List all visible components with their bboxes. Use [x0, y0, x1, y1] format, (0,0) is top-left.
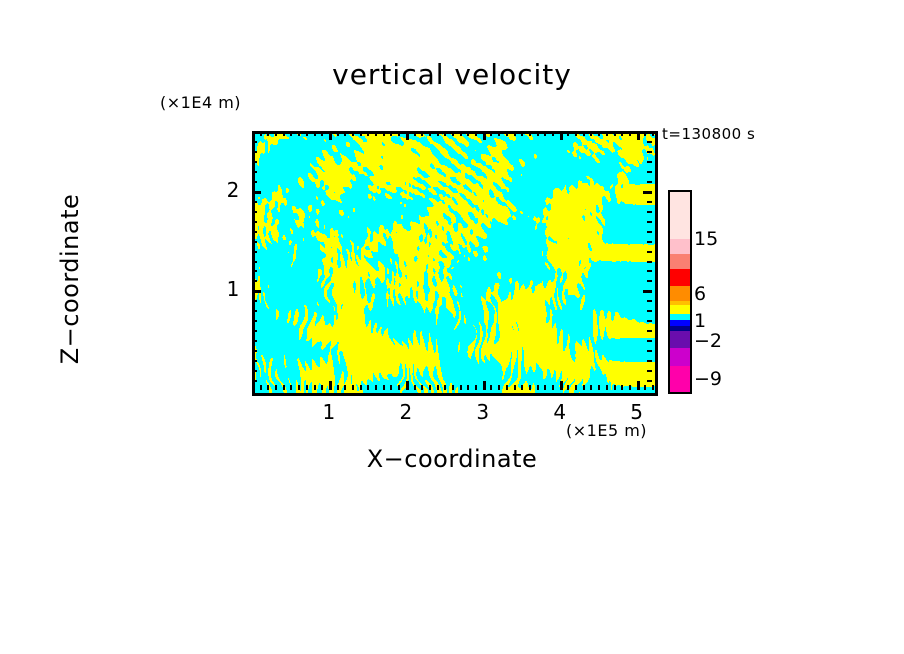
axis-tick	[583, 385, 585, 390]
axis-tick	[544, 385, 546, 390]
axis-tick	[290, 385, 292, 390]
x-axis-tick-label: 2	[392, 400, 420, 424]
y-axis-tick-label: 2	[222, 178, 244, 202]
axis-tick	[514, 385, 516, 390]
axis-tick	[252, 141, 257, 143]
axis-tick	[647, 171, 652, 173]
axis-tick	[637, 131, 640, 140]
axis-tick	[252, 380, 257, 382]
axis-tick	[490, 131, 492, 136]
axis-tick	[252, 171, 257, 173]
axis-tick	[252, 360, 257, 362]
axis-tick	[614, 131, 616, 136]
axis-tick	[575, 131, 577, 136]
axis-tick	[583, 131, 585, 136]
axis-tick	[329, 131, 332, 140]
axis-tick	[647, 251, 652, 253]
x-axis-tick-label: 4	[546, 400, 574, 424]
colorbar-tick-label: 15	[694, 228, 718, 250]
axis-tick	[444, 131, 446, 136]
axis-tick	[590, 385, 592, 390]
axis-tick	[414, 385, 416, 390]
colorbar-tick-label: −2	[694, 330, 722, 352]
axis-tick	[544, 131, 546, 136]
page-title: vertical velocity	[0, 58, 904, 91]
colorbar-tick-label: 6	[694, 283, 706, 305]
axis-tick	[275, 131, 277, 136]
y-axis-tick-label: 1	[222, 277, 244, 301]
axis-tick	[252, 191, 261, 194]
axis-tick	[529, 131, 531, 136]
axis-tick	[460, 385, 462, 390]
axis-tick	[267, 131, 269, 136]
axis-tick	[647, 161, 652, 163]
axis-tick	[360, 385, 362, 390]
axis-tick	[647, 300, 652, 302]
axis-tick	[375, 385, 377, 390]
axis-tick	[321, 131, 323, 136]
axis-tick	[314, 385, 316, 390]
axis-tick	[398, 131, 400, 136]
axis-tick	[490, 385, 492, 390]
axis-tick	[598, 131, 600, 136]
axis-tick	[647, 181, 652, 183]
axis-tick	[414, 131, 416, 136]
axis-tick	[621, 385, 623, 390]
axis-tick	[360, 131, 362, 136]
axis-tick	[644, 131, 646, 136]
axis-tick	[306, 131, 308, 136]
axis-tick	[647, 370, 652, 372]
axis-tick	[483, 131, 486, 140]
axis-tick	[290, 131, 292, 136]
axis-tick	[344, 131, 346, 136]
axis-tick	[260, 131, 262, 136]
axis-tick	[475, 131, 477, 136]
axis-tick	[429, 131, 431, 136]
axis-tick	[267, 385, 269, 390]
axis-tick	[252, 211, 257, 213]
axis-tick	[252, 370, 257, 372]
colorbar-band	[670, 331, 690, 348]
axis-tick	[298, 131, 300, 136]
axis-tick	[444, 385, 446, 390]
axis-tick	[644, 385, 646, 390]
axis-tick	[652, 131, 654, 136]
axis-tick	[498, 131, 500, 136]
contour-plot-area	[252, 131, 658, 396]
axis-tick	[260, 385, 262, 390]
colorbar-tick-label: −9	[694, 368, 722, 390]
axis-tick	[629, 131, 631, 136]
axis-tick	[560, 131, 563, 140]
axis-tick	[283, 385, 285, 390]
colorbar-band	[670, 239, 690, 254]
axis-tick	[275, 385, 277, 390]
axis-tick	[252, 151, 257, 153]
colorbar-band	[670, 366, 690, 392]
axis-tick	[367, 385, 369, 390]
axis-tick	[643, 290, 652, 293]
axis-tick	[498, 385, 500, 390]
axis-tick	[352, 385, 354, 390]
colorbar-band	[670, 254, 690, 269]
axis-tick	[647, 211, 652, 213]
axis-tick	[298, 385, 300, 390]
axis-tick	[637, 381, 640, 390]
axis-tick	[306, 385, 308, 390]
axis-tick	[647, 231, 652, 233]
axis-tick	[252, 330, 257, 332]
axis-tick	[647, 310, 652, 312]
axis-tick	[406, 131, 409, 140]
colorbar-band	[670, 348, 690, 366]
axis-tick	[252, 310, 257, 312]
axis-tick	[652, 385, 654, 390]
axis-tick	[647, 360, 652, 362]
axis-tick	[252, 251, 257, 253]
axis-tick	[283, 131, 285, 136]
axis-tick	[252, 340, 257, 342]
axis-tick	[252, 201, 257, 203]
x-axis-tick-label: 5	[623, 400, 651, 424]
axis-tick	[398, 385, 400, 390]
axis-tick	[521, 131, 523, 136]
velocity-field-image	[255, 134, 655, 393]
time-annotation: t=130800 s	[662, 125, 755, 143]
axis-tick	[506, 385, 508, 390]
axis-tick	[383, 385, 385, 390]
axis-tick	[647, 261, 652, 263]
colorbar	[668, 190, 692, 394]
axis-tick	[337, 385, 339, 390]
axis-tick	[567, 385, 569, 390]
axis-tick	[647, 141, 652, 143]
axis-tick	[252, 300, 257, 302]
x-axis-label: X−coordinate	[0, 445, 904, 473]
axis-tick	[552, 131, 554, 136]
axis-tick	[467, 385, 469, 390]
axis-tick	[460, 131, 462, 136]
y-axis-label: Z−coordinate	[56, 149, 84, 409]
axis-tick	[252, 320, 257, 322]
axis-tick	[452, 131, 454, 136]
axis-tick	[621, 131, 623, 136]
axis-tick	[647, 241, 652, 243]
axis-tick	[521, 385, 523, 390]
axis-tick	[606, 131, 608, 136]
axis-tick	[437, 131, 439, 136]
axis-tick	[437, 385, 439, 390]
axis-tick	[647, 330, 652, 332]
axis-tick	[647, 221, 652, 223]
axis-tick	[252, 350, 257, 352]
axis-tick	[590, 131, 592, 136]
axis-tick	[647, 280, 652, 282]
axis-tick	[537, 131, 539, 136]
y-axis-units-label: (×1E4 m)	[160, 93, 241, 112]
axis-tick	[314, 131, 316, 136]
axis-tick	[406, 381, 409, 390]
axis-tick	[606, 385, 608, 390]
axis-tick	[647, 380, 652, 382]
colorbar-tick-label: 1	[694, 310, 706, 332]
axis-tick	[575, 385, 577, 390]
axis-tick	[383, 131, 385, 136]
axis-tick	[567, 131, 569, 136]
axis-tick	[321, 385, 323, 390]
axis-tick	[647, 270, 652, 272]
axis-tick	[352, 131, 354, 136]
axis-tick	[329, 381, 332, 390]
axis-tick	[337, 131, 339, 136]
axis-tick	[375, 131, 377, 136]
axis-tick	[514, 131, 516, 136]
axis-tick	[647, 340, 652, 342]
axis-tick	[647, 320, 652, 322]
colorbar-band	[670, 269, 690, 286]
colorbar-band	[670, 192, 690, 239]
axis-tick	[529, 385, 531, 390]
axis-tick	[560, 381, 563, 390]
axis-tick	[483, 381, 486, 390]
x-axis-tick-label: 1	[315, 400, 343, 424]
axis-tick	[452, 385, 454, 390]
axis-tick	[647, 151, 652, 153]
axis-tick	[647, 350, 652, 352]
axis-tick	[475, 385, 477, 390]
axis-tick	[344, 385, 346, 390]
axis-tick	[252, 161, 257, 163]
axis-tick	[421, 131, 423, 136]
axis-tick	[467, 131, 469, 136]
x-axis-tick-label: 3	[469, 400, 497, 424]
axis-tick	[598, 385, 600, 390]
axis-tick	[252, 280, 257, 282]
axis-tick	[252, 270, 257, 272]
colorbar-band	[670, 286, 690, 301]
axis-tick	[390, 385, 392, 390]
axis-tick	[421, 385, 423, 390]
axis-tick	[252, 221, 257, 223]
axis-tick	[367, 131, 369, 136]
axis-tick	[552, 385, 554, 390]
axis-tick	[252, 181, 257, 183]
axis-tick	[629, 385, 631, 390]
axis-tick	[252, 290, 261, 293]
axis-tick	[614, 385, 616, 390]
axis-tick	[643, 191, 652, 194]
axis-tick	[252, 231, 257, 233]
axis-tick	[252, 241, 257, 243]
axis-tick	[390, 131, 392, 136]
figure-root: vertical velocity (×1E4 m) t=130800 s Z−…	[0, 0, 904, 654]
axis-tick	[537, 385, 539, 390]
axis-tick	[506, 131, 508, 136]
axis-tick	[429, 385, 431, 390]
axis-tick	[647, 201, 652, 203]
axis-tick	[252, 261, 257, 263]
